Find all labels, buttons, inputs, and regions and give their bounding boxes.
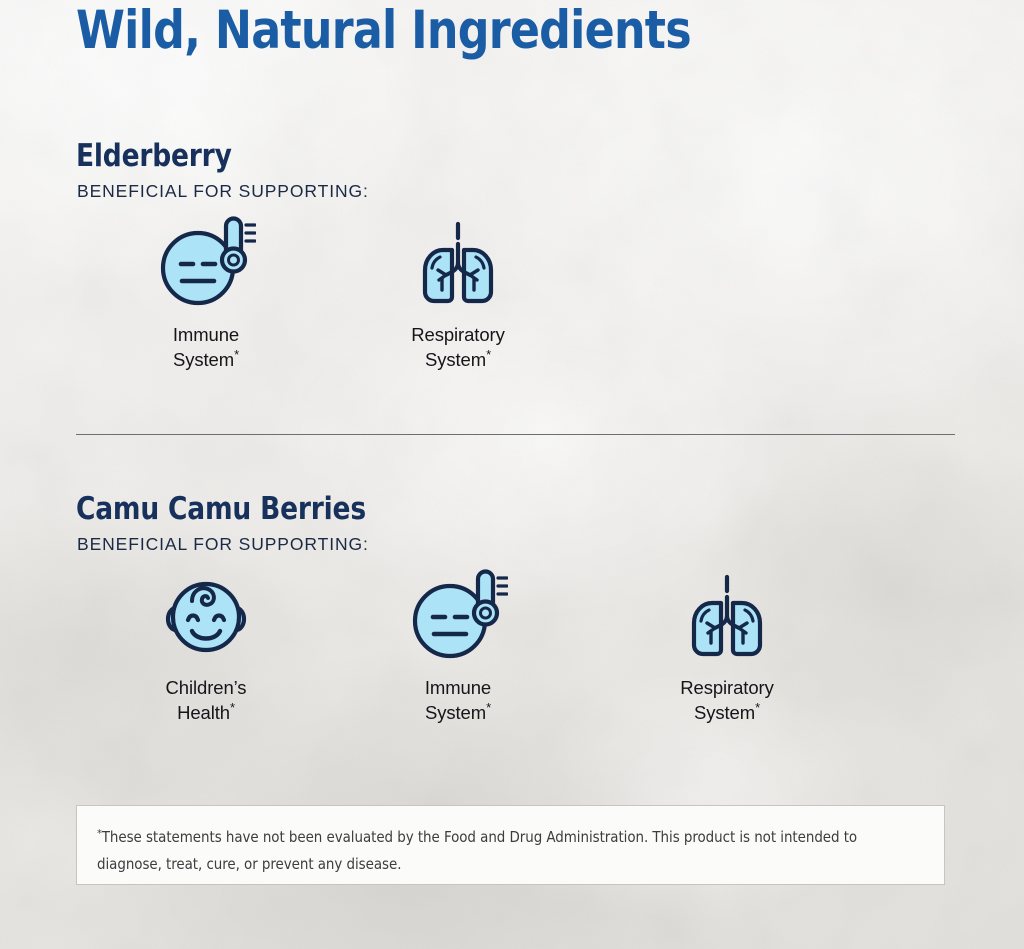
benefit-item-respiratory-system: Respiratory System*	[627, 567, 827, 725]
benefit-list: Immune System*	[0, 214, 1024, 404]
footnote-marker: *	[486, 700, 491, 715]
baby-face-icon	[106, 567, 306, 667]
footnote-marker: *	[755, 700, 760, 715]
immune-face-thermometer-icon	[106, 214, 306, 314]
benefit-label: Respiratory System*	[627, 676, 827, 725]
disclaimer-body: These statements have not been evaluated…	[97, 828, 857, 873]
benefit-label: Children’s Health*	[106, 676, 306, 725]
benefit-label: Immune System*	[106, 323, 306, 372]
page-title: Wild, Natural Ingredients	[76, 0, 691, 64]
footnote-marker: *	[486, 347, 491, 362]
lungs-icon	[627, 567, 827, 667]
benefit-item-respiratory-system: Respiratory System*	[358, 214, 558, 372]
benefit-item-immune-system: Immune System*	[358, 567, 558, 725]
benefit-label-text: Immune System	[425, 677, 491, 723]
benefit-list: Children’s Health*	[0, 567, 1024, 757]
lungs-icon	[358, 214, 558, 314]
ingredient-name: Elderberry	[76, 136, 232, 176]
footnote-marker: *	[230, 700, 235, 715]
benefit-label: Respiratory System*	[358, 323, 558, 372]
disclaimer-text: *These statements have not been evaluate…	[97, 824, 895, 878]
benefit-label-text: Immune System	[173, 324, 239, 370]
disclaimer-box: *These statements have not been evaluate…	[76, 805, 945, 885]
footnote-marker: *	[234, 347, 239, 362]
benefit-item-childrens-health: Children’s Health*	[106, 567, 306, 725]
ingredient-subtitle: BENEFICIAL FOR SUPPORTING:	[77, 533, 369, 555]
ingredient-name: Camu Camu Berries	[76, 489, 366, 529]
benefit-item-immune-system: Immune System*	[106, 214, 306, 372]
section-divider	[76, 434, 955, 435]
benefit-label: Immune System*	[358, 676, 558, 725]
ingredient-subtitle: BENEFICIAL FOR SUPPORTING:	[77, 180, 369, 202]
immune-face-thermometer-icon	[358, 567, 558, 667]
